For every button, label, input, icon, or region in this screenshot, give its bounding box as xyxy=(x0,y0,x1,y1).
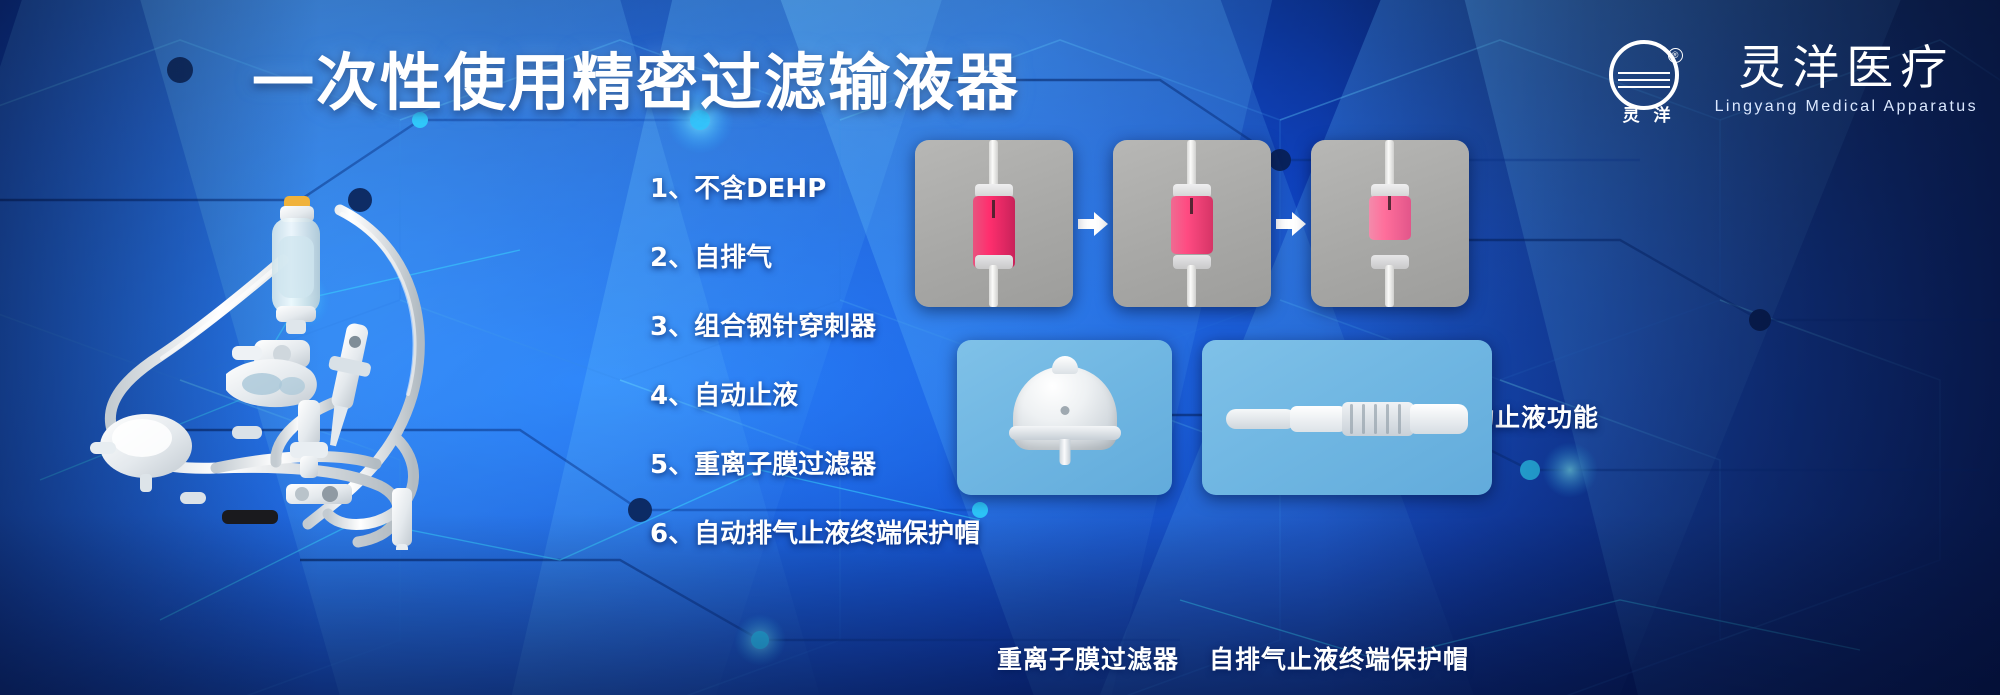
feature-item-4: 4、自动止液 xyxy=(650,383,980,409)
photo-drip-chamber-step-2 xyxy=(1113,140,1271,307)
brand-name-cn: 灵洋医疗 xyxy=(1738,44,1954,93)
product-photo-infusion-set xyxy=(40,150,640,550)
logo-emblem-label: 灵洋 xyxy=(1605,101,1689,126)
banner-stage: 一次性使用精密过滤输液器 ® 灵洋 灵洋医疗 Lingyang Medical … xyxy=(0,0,2000,695)
caption-heavy-ion-membrane-filter: 重离子膜过滤器 xyxy=(997,640,1179,676)
brand-logo: ® 灵洋 灵洋医疗 Lingyang Medical Apparatus xyxy=(1605,38,1978,122)
page-title: 一次性使用精密过滤输液器 xyxy=(252,52,1020,114)
arrow-right-icon-2 xyxy=(1271,211,1311,237)
feature-item-5: 5、重离子膜过滤器 xyxy=(650,452,980,478)
photo-heavy-ion-membrane-filter xyxy=(957,340,1172,495)
auto-stop-sequence-row xyxy=(915,140,1469,307)
photo-drip-chamber-step-3 xyxy=(1311,140,1469,307)
arrow-right-icon-1 xyxy=(1073,211,1113,237)
product-detail-cards xyxy=(957,340,1492,495)
caption-terminal-protective-cap: 自排气止液终端保护帽 xyxy=(1209,640,1469,676)
feature-item-6: 6、自动排气止液终端保护帽 xyxy=(650,521,980,547)
registered-trademark-icon: ® xyxy=(1668,48,1683,63)
logo-emblem-icon: ® 灵洋 xyxy=(1605,38,1689,122)
photo-drip-chamber-step-1 xyxy=(915,140,1073,307)
photo-terminal-protective-cap xyxy=(1202,340,1492,495)
feature-item-3: 3、组合钢针穿刺器 xyxy=(650,314,980,340)
brand-name-en: Lingyang Medical Apparatus xyxy=(1715,98,1978,116)
